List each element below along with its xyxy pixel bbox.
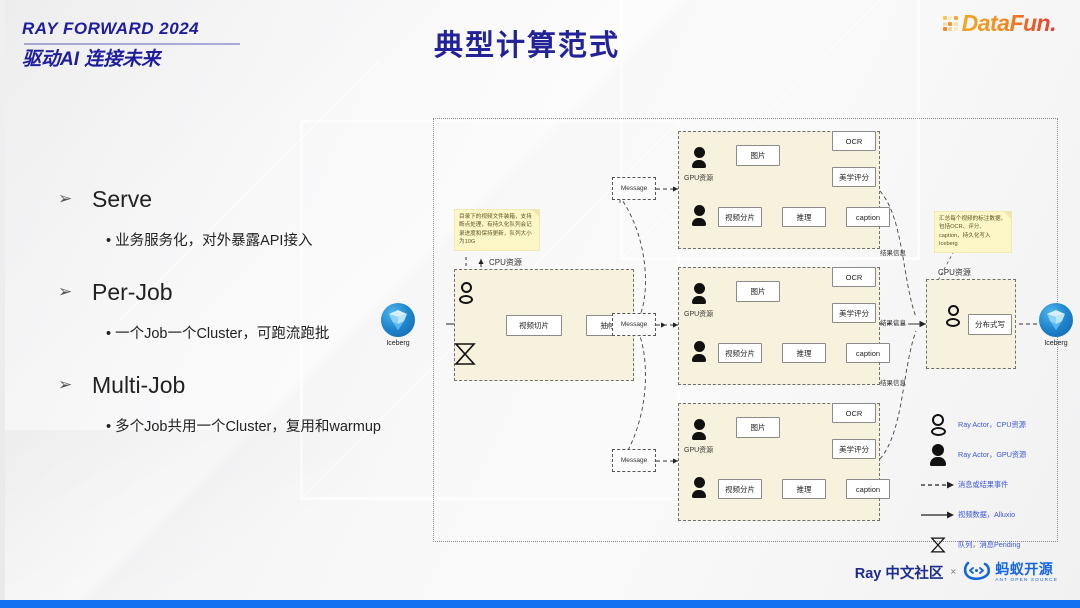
ant-en-label: ANT OPEN SOURCE xyxy=(995,578,1058,583)
divider xyxy=(24,43,240,45)
event-tagline: 驱动AI 连接未来 xyxy=(22,48,240,73)
node-ocr-3: OCR xyxy=(832,403,876,423)
slide-canvas: RAY FORWARD 2024 驱动AI 连接未来 典型计算范式 DataFu… xyxy=(0,0,1080,608)
legend-row: 消息或结果事件 xyxy=(918,470,1068,500)
ant-mark-icon xyxy=(963,559,991,586)
node-inference-1: 推理 xyxy=(782,207,826,227)
iceberg-icon xyxy=(381,303,415,337)
bullet-heading: Serve xyxy=(92,183,152,215)
node-inference-3: 推理 xyxy=(782,479,826,499)
iceberg-source: Iceberg xyxy=(378,303,418,347)
bullet-sub-label: 业务服务化，对外暴露API接入 xyxy=(115,233,312,249)
ant-open-source-logo: 蚂蚁开源 ANT OPEN SOURCE xyxy=(963,559,1058,586)
gpu-block-2-title: GPU资源 xyxy=(684,309,713,319)
cpu-in-title: CPU资源 xyxy=(489,257,522,268)
node-video-split-2: 视频分片 xyxy=(718,343,762,363)
list-item: ➢ Multi-Job xyxy=(58,369,448,401)
dots-icon xyxy=(943,16,958,31)
node-inference-2: 推理 xyxy=(782,343,826,363)
legend-label: 消息或结果事件 xyxy=(958,480,1008,490)
iceberg-sink: Iceberg xyxy=(1036,303,1076,347)
cpu-actor-icon xyxy=(459,282,473,304)
legend-row: Ray Actor，GPU资源 xyxy=(918,440,1068,470)
event-branding: RAY FORWARD 2024 驱动AI 连接未来 xyxy=(22,18,240,73)
page-title: 典型计算范式 xyxy=(434,22,620,64)
note-right: 汇总每个视频的标注数据，包括OCR、评分、caption，持久化写入Iceber… xyxy=(934,211,1012,253)
node-ocr-1: OCR xyxy=(832,131,876,151)
arrow-bullet-icon: ➢ xyxy=(58,276,92,308)
bottom-accent-bar xyxy=(0,600,1080,608)
legend: Ray Actor，CPU资源 Ray Actor，GPU资源 消息或结果事件 xyxy=(918,410,1068,560)
message-box-top: Message xyxy=(612,177,656,200)
gpu-actor-icon xyxy=(692,419,706,440)
gpu-actor-icon xyxy=(692,147,706,168)
note-left: 目录下的视频文件装箱，支持断点处理，有持久化队列会记录进度和保持更新，队列大小为… xyxy=(454,209,540,251)
iceberg-source-label: Iceberg xyxy=(378,340,418,347)
dot-icon: • xyxy=(106,233,111,249)
node-video-split-3: 视频分片 xyxy=(718,479,762,499)
gpu-actor-icon xyxy=(692,341,706,362)
gpu-actor-icon xyxy=(692,205,706,226)
node-distributed-write: 分布式写 xyxy=(968,314,1012,335)
ray-community-label: Ray 中文社区 xyxy=(855,562,944,583)
cpu-actor-icon xyxy=(946,305,960,327)
result-label-bottom: 结果信息 xyxy=(880,377,906,387)
hourglass-icon xyxy=(918,535,958,555)
arrow-bullet-icon: ➢ xyxy=(58,369,92,401)
arrow-bullet-icon: ➢ xyxy=(58,183,92,215)
bullet-sub-label: 多个Job共用一个Cluster，复用和warmup xyxy=(115,419,381,435)
solid-arrow-icon xyxy=(918,510,958,520)
step-video-slice: 视频切片 xyxy=(506,315,562,336)
bullet-sub: •业务服务化，对外暴露API接入 xyxy=(106,229,448,250)
legend-label: 视频数据，Alluxio xyxy=(958,510,1015,520)
legend-label: Ray Actor，CPU资源 xyxy=(958,420,1026,430)
footer-branding: Ray 中文社区 × 蚂蚁开源 ANT OPEN SOURCE xyxy=(855,559,1058,586)
result-label-middle: 结果信息 xyxy=(880,317,906,327)
dot-icon: • xyxy=(106,419,111,435)
legend-label: Ray Actor，GPU资源 xyxy=(958,450,1026,460)
list-item: ➢ Serve xyxy=(58,183,448,215)
node-caption-2: caption xyxy=(846,343,890,363)
node-aesthetic-3: 美学评分 xyxy=(832,439,876,459)
node-aesthetic-2: 美学评分 xyxy=(832,303,876,323)
node-image-3: 图片 xyxy=(736,417,780,438)
cpu-out-title: CPU资源 xyxy=(938,267,971,278)
dashed-arrow-icon xyxy=(918,480,958,490)
node-ocr-2: OCR xyxy=(832,267,876,287)
datafun-logo: DataFun. xyxy=(943,10,1056,37)
datafun-wordmark: DataFun. xyxy=(962,10,1056,37)
legend-row: Ray Actor，CPU资源 xyxy=(918,410,1068,440)
node-video-split-1: 视频分片 xyxy=(718,207,762,227)
left-edge-bar xyxy=(0,0,5,600)
ant-cn-label: 蚂蚁开源 xyxy=(995,562,1053,576)
dot-icon: • xyxy=(106,326,111,342)
event-title: RAY FORWARD 2024 xyxy=(22,18,240,41)
iceberg-icon xyxy=(1039,303,1073,337)
cpu-actor-icon xyxy=(918,414,958,437)
legend-label: 队列，消息Pending xyxy=(958,540,1020,550)
gpu-block-1-title: GPU资源 xyxy=(684,173,713,183)
bullet-heading: Per-Job xyxy=(92,276,173,308)
bullet-heading: Multi-Job xyxy=(92,369,185,401)
bullet-sub-label: 一个Job一个Cluster，可跑流跑批 xyxy=(115,326,329,342)
legend-row: 视频数据，Alluxio xyxy=(918,500,1068,530)
gpu-actor-icon xyxy=(692,283,706,304)
times-icon: × xyxy=(950,567,956,578)
node-image-1: 图片 xyxy=(736,145,780,166)
gpu-actor-icon xyxy=(692,477,706,498)
result-label-top: 结果信息 xyxy=(880,247,906,257)
message-box-middle: Message xyxy=(612,313,656,336)
bullet-sub: •多个Job共用一个Cluster，复用和warmup xyxy=(106,415,448,436)
node-caption-1: caption xyxy=(846,207,890,227)
legend-row: 队列，消息Pending xyxy=(918,530,1068,560)
hourglass-icon xyxy=(452,341,478,372)
gpu-block-3-title: GPU资源 xyxy=(684,445,713,455)
iceberg-sink-label: Iceberg xyxy=(1036,340,1076,347)
gpu-actor-icon xyxy=(918,444,958,467)
node-aesthetic-1: 美学评分 xyxy=(832,167,876,187)
node-caption-3: caption xyxy=(846,479,890,499)
message-box-bottom: Message xyxy=(612,449,656,472)
node-image-2: 图片 xyxy=(736,281,780,302)
